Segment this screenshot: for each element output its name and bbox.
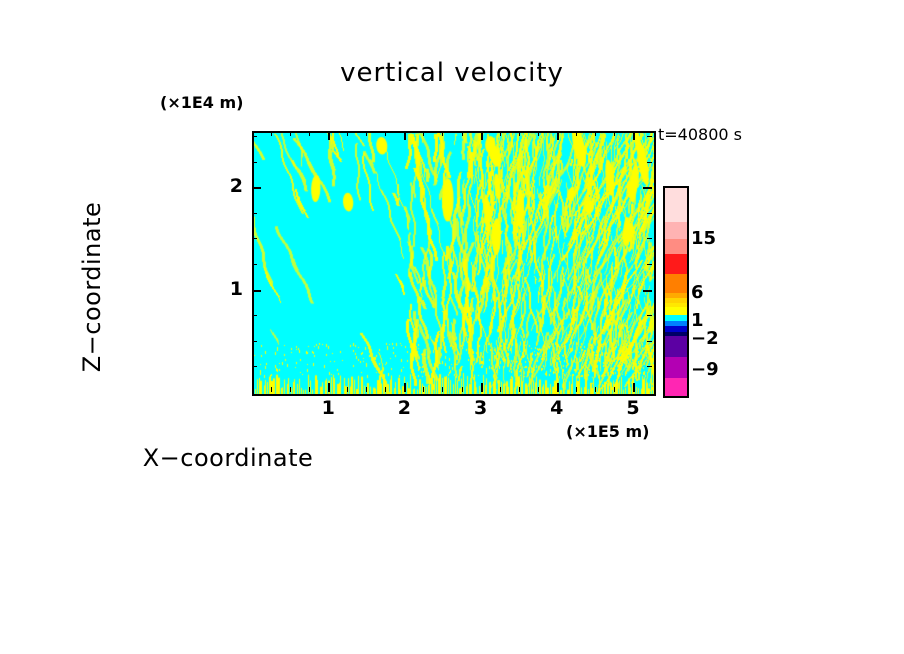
x-tick — [481, 383, 483, 392]
contour-plot-area[interactable] — [252, 131, 656, 396]
x-minor-tick — [385, 131, 386, 136]
x-tick-label: 1 — [308, 397, 348, 419]
x-tick-label: 4 — [537, 397, 577, 419]
chart-title: vertical velocity — [0, 58, 904, 88]
colorbar-segment — [665, 336, 687, 357]
y-minor-tick — [647, 238, 652, 239]
chart-title-text: vertical velocity — [340, 58, 564, 88]
x-minor-tick — [271, 387, 272, 392]
y-minor-tick — [252, 238, 257, 239]
colorbar-segment — [665, 239, 687, 254]
x-tick — [557, 131, 559, 140]
x-tick-label: 3 — [461, 397, 501, 419]
colorbar-tick-label: −2 — [691, 328, 719, 349]
colorbar-segment — [665, 222, 687, 239]
x-axis-label-text: X−coordinate — [143, 444, 314, 472]
x-minor-tick — [576, 131, 577, 136]
colorbar-segment — [665, 274, 687, 293]
x-minor-tick — [576, 387, 577, 392]
x-minor-tick — [538, 131, 539, 136]
x-minor-tick — [423, 131, 424, 136]
x-minor-tick — [442, 131, 443, 136]
colorbar-segment — [665, 254, 687, 274]
x-axis-unit-label: (×1E5 m) — [566, 422, 649, 441]
y-minor-tick — [252, 366, 257, 367]
x-minor-tick — [309, 387, 310, 392]
x-minor-tick — [423, 387, 424, 392]
x-minor-tick — [519, 131, 520, 136]
x-axis-label: X−coordinate — [0, 444, 904, 472]
y-tick-label: 2 — [215, 175, 243, 197]
y-minor-tick — [252, 136, 257, 137]
x-tick — [481, 131, 483, 140]
y-minor-tick — [647, 315, 652, 316]
x-tick — [633, 131, 635, 140]
y-tick-label: 1 — [215, 278, 243, 300]
x-minor-tick — [366, 387, 367, 392]
colorbar-tick-label: −9 — [691, 359, 719, 380]
colorbar-segment — [665, 378, 687, 396]
y-minor-tick — [647, 162, 652, 163]
y-axis-label: Z−coordinate — [78, 137, 106, 437]
x-tick — [328, 131, 330, 140]
x-minor-tick — [290, 387, 291, 392]
time-annotation: t=40800 s — [658, 125, 742, 144]
figure-canvas: vertical velocity (×1E4 m) (×1E5 m) t=40… — [0, 0, 904, 654]
x-minor-tick — [538, 387, 539, 392]
y-tick — [643, 187, 652, 189]
y-minor-tick — [252, 341, 257, 342]
x-minor-tick — [500, 387, 501, 392]
colorbar[interactable] — [663, 186, 689, 398]
x-minor-tick — [309, 131, 310, 136]
colorbar-segment — [665, 188, 687, 222]
x-minor-tick — [595, 387, 596, 392]
x-tick — [633, 383, 635, 392]
y-minor-tick — [252, 162, 257, 163]
y-minor-tick — [252, 213, 257, 214]
y-minor-tick — [647, 341, 652, 342]
x-minor-tick — [385, 387, 386, 392]
y-minor-tick — [647, 213, 652, 214]
y-minor-tick — [252, 315, 257, 316]
colorbar-tick-label: 6 — [691, 282, 704, 303]
y-minor-tick — [647, 136, 652, 137]
x-minor-tick — [347, 131, 348, 136]
y-axis-unit-label: (×1E4 m) — [160, 93, 243, 112]
y-tick — [252, 187, 261, 189]
y-minor-tick — [647, 366, 652, 367]
x-minor-tick — [347, 387, 348, 392]
y-minor-tick — [252, 264, 257, 265]
x-tick-label: 2 — [384, 397, 424, 419]
x-minor-tick — [500, 131, 501, 136]
y-tick — [252, 290, 261, 292]
x-minor-tick — [519, 387, 520, 392]
x-tick — [328, 383, 330, 392]
x-tick — [557, 383, 559, 392]
x-minor-tick — [290, 131, 291, 136]
x-minor-tick — [462, 387, 463, 392]
x-tick — [404, 383, 406, 392]
x-tick-label: 5 — [613, 397, 653, 419]
colorbar-segment — [665, 357, 687, 378]
y-tick — [643, 290, 652, 292]
x-minor-tick — [366, 131, 367, 136]
velocity-field-raster — [254, 133, 654, 394]
x-minor-tick — [614, 387, 615, 392]
x-tick — [404, 131, 406, 140]
x-minor-tick — [614, 131, 615, 136]
colorbar-tick-label: 15 — [691, 228, 716, 249]
colorbar-segment — [665, 307, 687, 315]
x-minor-tick — [442, 387, 443, 392]
x-minor-tick — [462, 131, 463, 136]
x-minor-tick — [595, 131, 596, 136]
x-minor-tick — [271, 131, 272, 136]
y-minor-tick — [647, 264, 652, 265]
